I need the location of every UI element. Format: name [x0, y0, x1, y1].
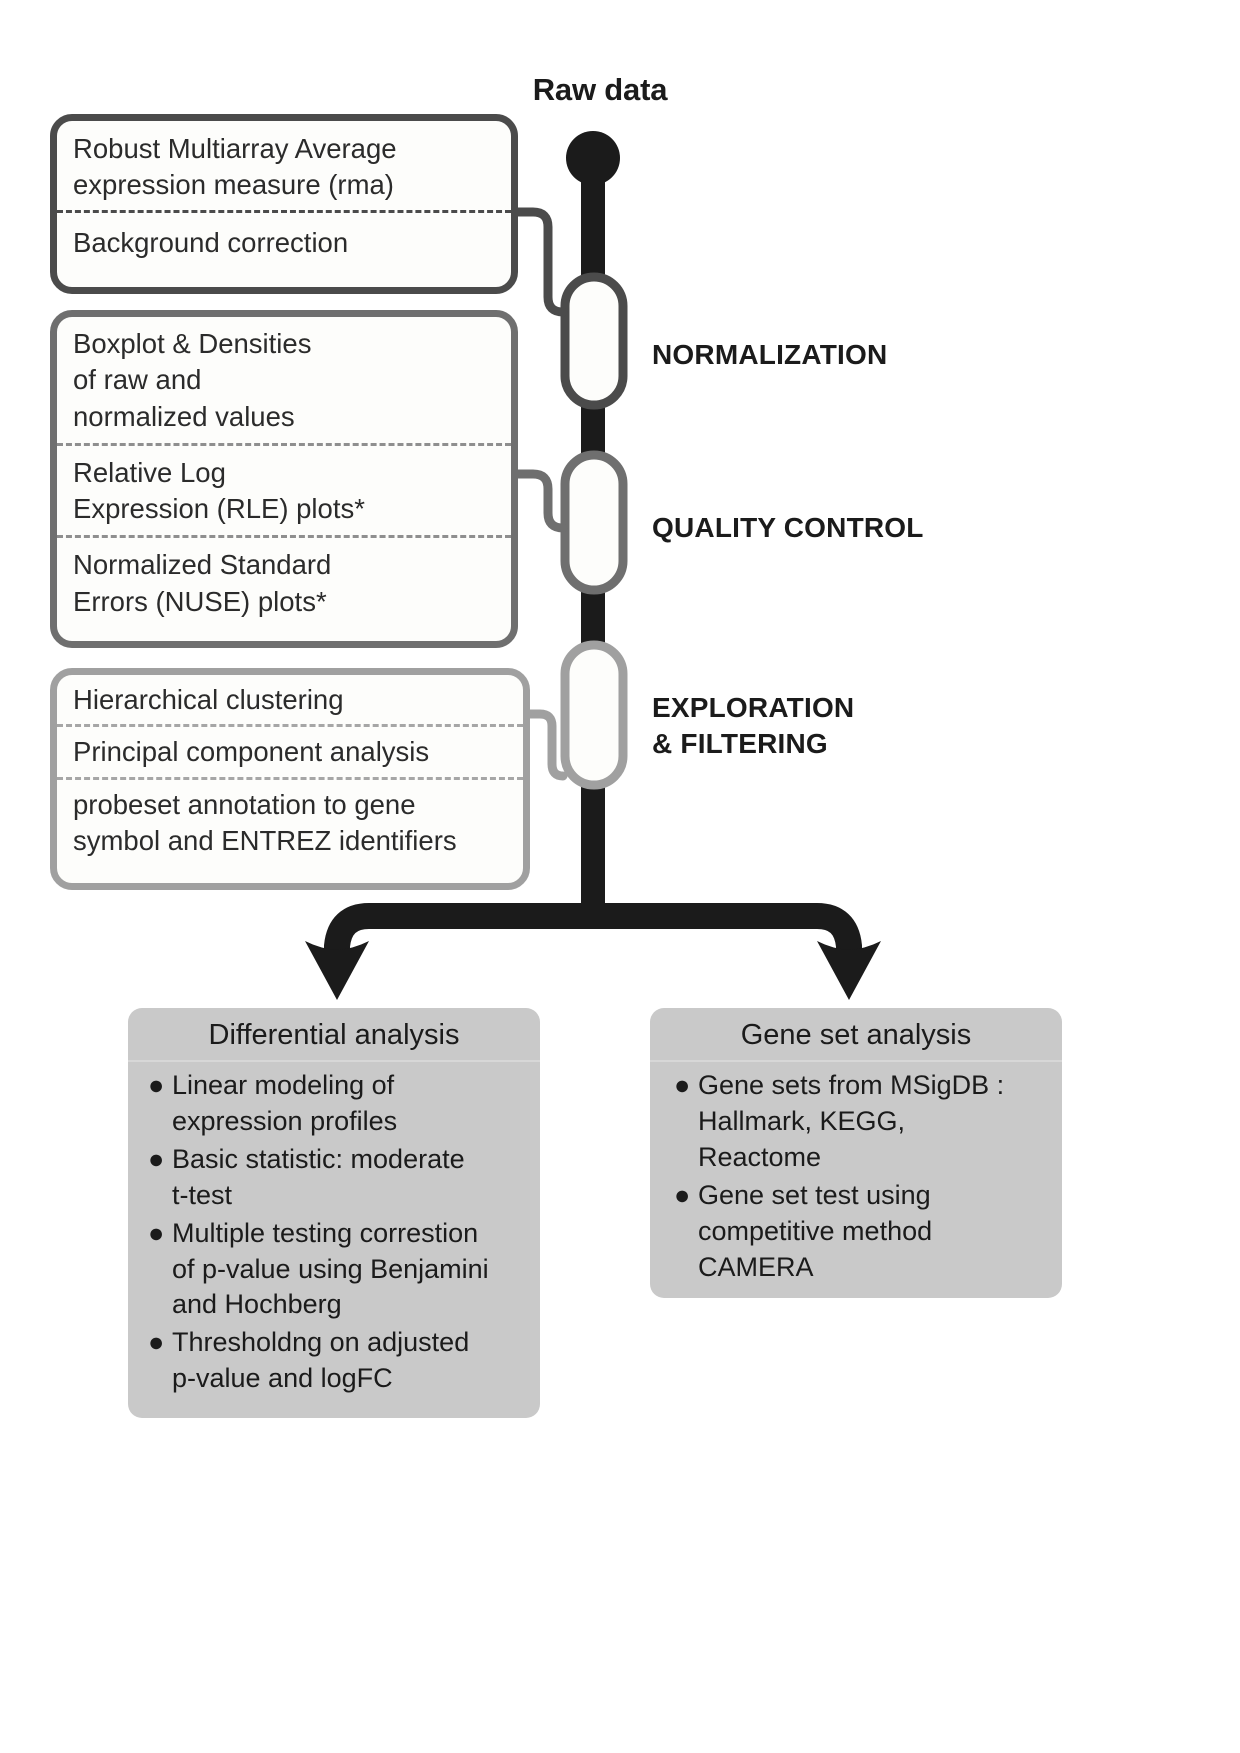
list-item-text: Basic statistic: moderate t-test	[172, 1144, 465, 1210]
bullet-icon: ●	[674, 1178, 690, 1214]
stepbox-normalization: Robust Multiarray Average expression mea…	[50, 114, 518, 294]
stage-label-normalization: NORMALIZATION	[652, 337, 887, 373]
bullet-icon: ●	[148, 1216, 164, 1252]
list-item: ●Multiple testing correstion of p-value …	[172, 1216, 526, 1324]
stepbox-exploration-filtering: Hierarchical clustering Principal compon…	[50, 668, 530, 890]
list-item: ●Gene sets from MSigDB : Hallmark, KEGG,…	[698, 1068, 1048, 1176]
branch-arrows	[305, 916, 881, 1000]
list-item: ●Gene set test using competitive method …	[698, 1178, 1048, 1286]
list-item-text: Multiple testing correstion of p-value u…	[172, 1218, 489, 1320]
step-item: probeset annotation to gene symbol and E…	[57, 777, 523, 866]
outcome-item-list: ●Gene sets from MSigDB : Hallmark, KEGG,…	[650, 1062, 1062, 1298]
list-item-text: Linear modeling of expression profiles	[172, 1070, 397, 1136]
list-item-text: Gene set test using competitive method C…	[698, 1180, 932, 1282]
stepbox-quality-control: Boxplot & Densities of raw and normalize…	[50, 310, 518, 648]
bullet-icon: ●	[148, 1068, 164, 1104]
step-item: Hierarchical clustering	[57, 675, 523, 724]
bullet-icon: ●	[148, 1325, 164, 1361]
capsule-quality-control	[565, 455, 623, 590]
outcome-box-gene-set-analysis: Gene set analysis ●Gene sets from MSigDB…	[650, 1008, 1062, 1298]
list-item-text: Gene sets from MSigDB : Hallmark, KEGG, …	[698, 1070, 1004, 1172]
raw-data-label: Raw data	[470, 72, 730, 108]
capsule-normalization	[565, 277, 623, 405]
connector-normalization	[518, 212, 563, 312]
list-item: ●Linear modeling of expression profiles	[172, 1068, 526, 1140]
outcome-title: Gene set analysis	[650, 1008, 1062, 1062]
step-item: Relative Log Expression (RLE) plots*	[57, 443, 511, 536]
bullet-icon: ●	[674, 1068, 690, 1104]
step-item: Robust Multiarray Average expression mea…	[57, 121, 511, 210]
step-item: Boxplot & Densities of raw and normalize…	[57, 317, 511, 443]
bullet-icon: ●	[148, 1142, 164, 1178]
outcome-item-list: ●Linear modeling of expression profiles …	[128, 1062, 540, 1413]
step-item: Normalized Standard Errors (NUSE) plots*	[57, 535, 511, 628]
connector-exploration	[530, 714, 563, 776]
step-item: Principal component analysis	[57, 724, 523, 776]
diagram-canvas: Raw data Robust Multiarray Average expre…	[0, 0, 1240, 1753]
step-item: Background correction	[57, 210, 511, 267]
list-item-text: Thresholdng on adjusted p-value and logF…	[172, 1327, 469, 1393]
stage-label-exploration-filtering: EXPLORATION & FILTERING	[652, 690, 854, 762]
stage-label-quality-control: QUALITY CONTROL	[652, 510, 924, 546]
outcome-box-differential-analysis: Differential analysis ●Linear modeling o…	[128, 1008, 540, 1418]
connector-quality-control	[518, 474, 563, 528]
list-item: ●Thresholdng on adjusted p-value and log…	[172, 1325, 526, 1397]
capsule-exploration	[565, 645, 623, 785]
list-item: ●Basic statistic: moderate t-test	[172, 1142, 526, 1214]
outcome-title: Differential analysis	[128, 1008, 540, 1062]
